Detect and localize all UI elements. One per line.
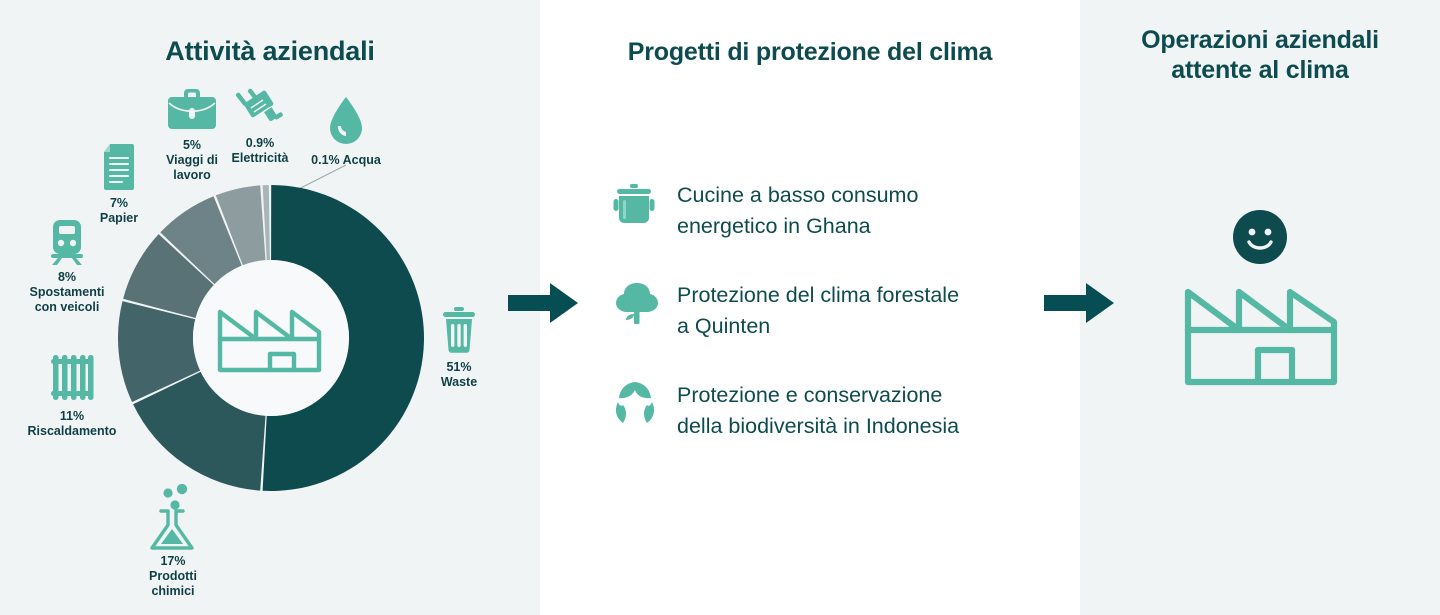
- project-item-0[interactable]: Cucine a basso consumo energetico in Gha…: [613, 180, 918, 241]
- chart-label-waste: 51% Waste: [425, 360, 493, 390]
- donut-center-hub: [193, 260, 349, 416]
- project-text-1: Protezione del clima forestale a Quinten: [677, 280, 959, 341]
- flask-icon: [144, 484, 202, 552]
- left-column-title: Attività aziendali: [40, 36, 500, 68]
- chart-label-vehicles: 8% Spostamenti con veicoli: [8, 270, 126, 315]
- project-text-2: Protezione e conservazione della biodive…: [677, 380, 959, 441]
- chart-item-waste: 51% Waste: [425, 306, 493, 390]
- project-item-1[interactable]: Protezione del clima forestale a Quinten: [613, 280, 959, 341]
- tree-icon: [613, 280, 655, 331]
- smiley-face-icon: [1232, 209, 1288, 265]
- arrow-right-icon-2: [1044, 281, 1116, 325]
- chart-item-water: 0.1% Acqua: [300, 95, 392, 168]
- infographic-root: Attività aziendali 5% Viaggi di lavoro: [0, 0, 1440, 615]
- cooking-pot-icon: [613, 180, 655, 231]
- briefcase-icon: [163, 84, 221, 134]
- donut-chart: [118, 185, 424, 491]
- chart-label-electricity: 0.9% Elettricità: [221, 136, 299, 166]
- factory-icon-result: [1182, 284, 1340, 388]
- recycle-leaves-icon: [613, 380, 655, 431]
- chart-item-electricity: 0.9% Elettricità: [221, 86, 299, 166]
- chart-item-heating: 11% Riscaldamento: [8, 355, 136, 439]
- water-drop-icon: [325, 95, 367, 147]
- factory-icon: [215, 302, 327, 374]
- train-icon: [45, 218, 89, 266]
- project-text-0: Cucine a basso consumo energetico in Gha…: [677, 180, 918, 241]
- chart-item-chemicals: 17% Prodotti chimici: [120, 484, 226, 599]
- trash-icon: [439, 306, 479, 356]
- middle-column-title: Progetti di protezione del clima: [580, 38, 1040, 68]
- chart-label-chemicals: 17% Prodotti chimici: [120, 554, 226, 599]
- right-column-title: Operazioni aziendali attente al clima: [1100, 26, 1420, 85]
- plug-icon: [234, 86, 286, 134]
- chart-label-heating: 11% Riscaldamento: [8, 409, 136, 439]
- arrow-right-icon-1: [508, 281, 580, 325]
- chart-item-vehicles: 8% Spostamenti con veicoli: [8, 218, 126, 315]
- project-item-2[interactable]: Protezione e conservazione della biodive…: [613, 380, 959, 441]
- radiator-icon: [41, 355, 103, 405]
